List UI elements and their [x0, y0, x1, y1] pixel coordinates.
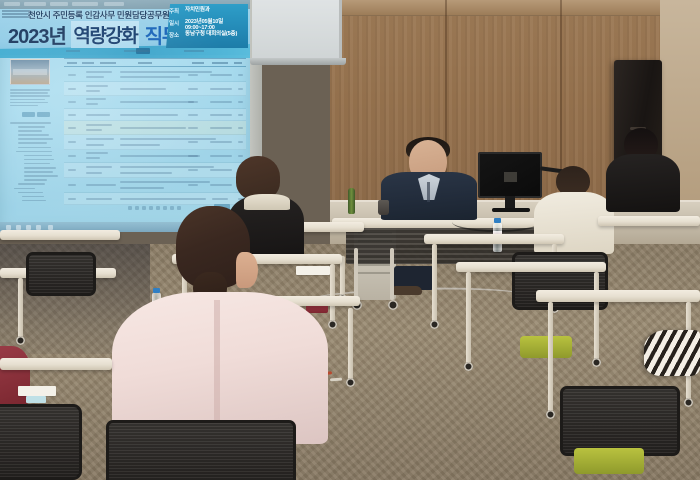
desk-leg	[466, 272, 471, 364]
desk-far-right	[598, 216, 700, 256]
presenter-jacket-zip	[427, 182, 430, 202]
chair-back	[560, 386, 680, 456]
attendee-black-left-collar	[244, 194, 290, 210]
info-value: 2023년05월10일 09:00~17:00	[185, 19, 246, 32]
info-row: 장소 동남구청 대회의실(5층)	[169, 31, 246, 43]
slide-side-paragraph	[10, 89, 50, 108]
header-decoration	[2, 10, 30, 18]
table-header	[64, 58, 246, 67]
table-caption-row	[64, 50, 246, 57]
table-row	[64, 96, 246, 109]
coffee-cup	[378, 200, 389, 215]
info-row: 일시 2023년05월10일 09:00~17:00	[169, 19, 246, 31]
info-value: 동남구청 대회의실(5층)	[185, 31, 246, 37]
projection-screen: 천안시 주민등록 인감사무 민원담당공무원 2023년 역량강화 직무교육 1기…	[0, 0, 250, 232]
attendee-black-torso	[606, 154, 680, 212]
table-pagination[interactable]	[104, 206, 204, 211]
photo-scene: 천안시 주민등록 인감사무 민원담당공무원 2023년 역량강화 직무교육 1기…	[0, 0, 700, 480]
title-year: 2023년	[8, 26, 66, 48]
table-row	[64, 178, 246, 193]
info-row: 주최 자치민원과	[169, 7, 246, 19]
title-highlight: 역량강화	[71, 21, 139, 48]
desk-leg	[432, 244, 437, 322]
desk-papers	[296, 266, 330, 275]
zebra-print-bag	[644, 330, 700, 376]
desk-foreground-left	[0, 358, 112, 404]
slide-outline-list	[10, 122, 58, 204]
desk-papers	[18, 386, 56, 396]
table-row	[64, 109, 246, 121]
slide-table	[64, 58, 246, 216]
table-row	[64, 68, 246, 82]
desk-leg	[348, 308, 353, 380]
table-row	[64, 163, 246, 178]
desk-card	[26, 396, 46, 403]
table-row	[64, 82, 246, 96]
chair-seat	[520, 336, 572, 358]
desk-leg	[18, 278, 23, 338]
whiteboard	[252, 0, 342, 60]
info-value: 자치민원과	[185, 7, 246, 13]
slide-thumbnail-photo	[10, 59, 50, 85]
info-key: 일시	[169, 19, 185, 27]
table-row	[64, 150, 246, 163]
slide-content	[0, 58, 250, 220]
table-row	[64, 135, 246, 150]
chair-back	[26, 252, 96, 296]
info-key: 주최	[169, 7, 185, 15]
slide-side-panel	[6, 58, 60, 216]
slide-info-box: 주최 자치민원과 일시 2023년05월10일 09:00~17:00 장소 동…	[166, 4, 248, 48]
info-key: 장소	[169, 31, 185, 39]
slide-side-buttons	[22, 112, 50, 117]
attendee-pink-shirt-seam	[214, 300, 220, 430]
chair-back	[106, 420, 296, 480]
desk-leg	[548, 302, 553, 412]
desk-monitor	[478, 152, 542, 198]
wall-trim	[330, 0, 700, 16]
chair-seat	[574, 448, 644, 474]
green-bottle	[348, 188, 355, 214]
whiteboard-frame	[250, 58, 346, 65]
table-row	[64, 121, 246, 135]
attendee-pink-neck-skin	[236, 252, 258, 288]
chair-back	[0, 404, 82, 480]
